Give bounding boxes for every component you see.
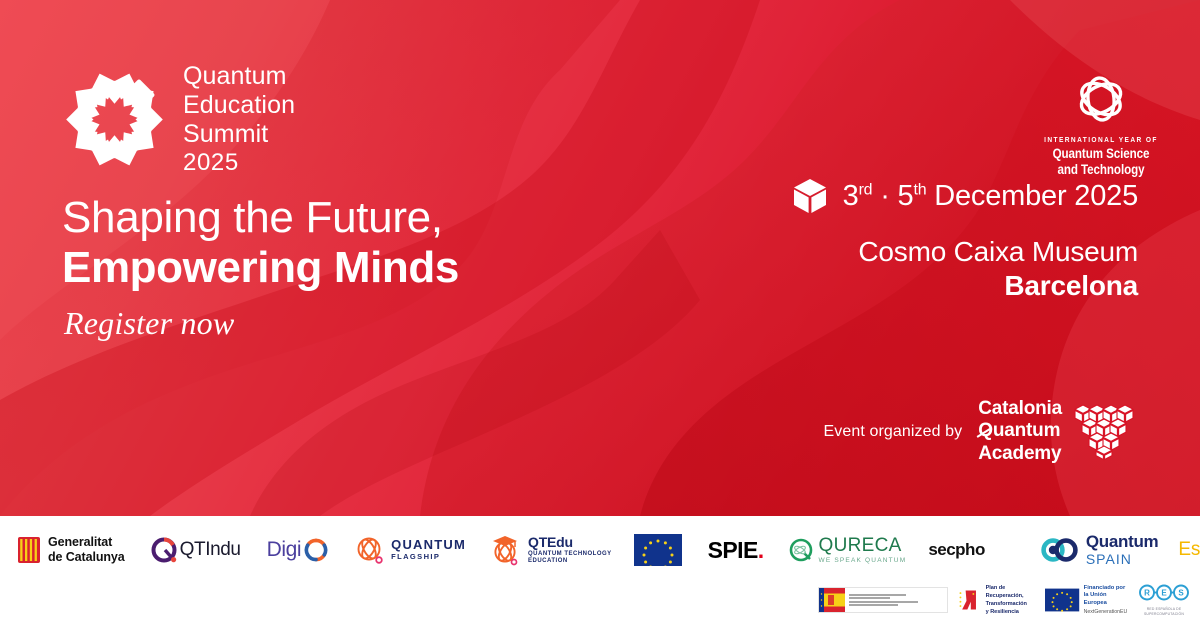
- eu-funding-line3: NextGenerationEU: [1084, 609, 1129, 616]
- summit-logo-wordmark: Quantum Education Summit 2025: [183, 62, 295, 177]
- sponsor-quantum-spain[interactable]: Quantum SPAIN: [1041, 533, 1159, 566]
- event-details: 3rd · 5th December 2025 Cosmo Caixa Muse…: [793, 178, 1138, 302]
- summit-logo: Quantum Education Summit 2025: [62, 62, 295, 177]
- sponsor-secpho[interactable]: secpho: [928, 540, 985, 560]
- res-caption-line2: SUPERCOMPUTACIÓN: [1138, 612, 1190, 617]
- cube-icon: [793, 178, 827, 214]
- secpho-label: secpho: [928, 540, 985, 560]
- sponsor-digiq[interactable]: Digi: [267, 537, 330, 563]
- prtr-r-icon: [957, 587, 981, 613]
- cqa-line2: Quantum: [978, 420, 1062, 442]
- sponsor-espana-digital[interactable]: España | digital 20 26 ↵: [1178, 539, 1200, 561]
- cqa-line3: Academy: [978, 443, 1062, 465]
- sponsor-european-union[interactable]: [634, 534, 682, 566]
- catalonia-quantum-academy-logo: Catalonia Quantum Academy: [978, 398, 1138, 465]
- headline-line2: Empowering Minds: [62, 242, 459, 294]
- register-now-cta[interactable]: Register now: [64, 305, 234, 342]
- qtedu-line1: QTEdu: [528, 535, 612, 551]
- event-date-row: 3rd · 5th December 2025: [793, 178, 1138, 214]
- sponsor-quantum-flagship[interactable]: QUANTUM FLAGSHIP: [355, 535, 466, 565]
- summit-logo-year: 2025: [183, 149, 295, 177]
- digiq-label: Digi: [267, 538, 302, 562]
- summit-logo-line2: Education: [183, 91, 295, 120]
- european-union-flag-icon: [634, 534, 682, 566]
- sponsor-plan-recuperacion[interactable]: Plan de Recuperación, Transformación y R…: [957, 584, 1036, 616]
- atom-orbits-icon: [1065, 68, 1137, 130]
- qtedu-line3: EDUCATION: [528, 558, 612, 565]
- sponsor-spie[interactable]: SPIE.: [708, 537, 764, 564]
- day-end-ordinal: th: [913, 181, 926, 198]
- event-venue: Cosmo Caixa Museum: [793, 236, 1138, 268]
- day-end: 5: [898, 180, 914, 212]
- headline-line1: Shaping the Future,: [62, 194, 459, 242]
- gobierno-text-block: [845, 592, 947, 608]
- iyq-eyebrow: INTERNATIONAL YEAR OF: [1043, 137, 1160, 144]
- flagship-line2: FLAGSHIP: [391, 553, 466, 562]
- quantum-spain-line1: Quantum: [1086, 533, 1159, 551]
- organizer-block: Event organized by Catalonia Quantum Aca…: [824, 398, 1139, 465]
- event-banner: Quantum Education Summit 2025 Shaping th…: [0, 0, 1200, 627]
- international-year-quantum-logo: INTERNATIONAL YEAR OF Quantum Science an…: [1039, 68, 1163, 177]
- qtedu-line2: QUANTUM TECHNOLOGY: [528, 551, 612, 558]
- qtindu-label: QTIndu: [180, 539, 241, 561]
- eu-funding-line1: Financiado por: [1084, 585, 1129, 593]
- digiq-ring-icon: [303, 537, 329, 563]
- quantum-spain-line2: SPAIN: [1086, 552, 1159, 567]
- cqa-q-glyph: Q: [978, 420, 993, 442]
- qureca-line1: QURECA: [818, 536, 906, 557]
- qtindu-circle-icon: [151, 537, 177, 563]
- flagship-line1: QUANTUM: [391, 538, 466, 553]
- quantum-education-summit-mandala: [62, 67, 167, 172]
- cqa-wordmark: Catalonia Quantum Academy: [978, 398, 1062, 465]
- spie-label: SPIE: [708, 537, 758, 563]
- res-letter-r: R: [1144, 588, 1150, 597]
- spie-dot: .: [758, 537, 764, 563]
- generalitat-line1: Generalitat: [48, 535, 125, 550]
- res-rings-icon: R E S: [1138, 584, 1190, 601]
- gobierno-de-espana-icon: [819, 588, 845, 612]
- sponsor-qtedu[interactable]: QTEdu QUANTUM TECHNOLOGY EDUCATION: [488, 533, 612, 567]
- event-city: Barcelona: [793, 270, 1138, 302]
- organizer-prefix: Event organized by: [824, 423, 963, 441]
- cqa-q-rest: uantum: [993, 420, 1060, 441]
- day-start: 3: [843, 180, 859, 212]
- qureca-circle-icon: [789, 538, 813, 562]
- day-start-ordinal: rd: [859, 181, 873, 198]
- sponsor-qureca[interactable]: QURECA WE SPEAK QUANTUM: [789, 536, 906, 564]
- res-letter-s: S: [1178, 588, 1184, 597]
- generalitat-line2: de Catalunya: [48, 550, 125, 565]
- iyq-title-line1: Quantum Science: [1048, 146, 1155, 162]
- cube-cluster-icon: [1072, 402, 1138, 462]
- cqa-line1: Catalonia: [978, 398, 1062, 420]
- eu-funding-line2: la Unión Europea: [1084, 592, 1129, 607]
- sponsor-bar: Generalitat de Catalunya QTIndu Digi: [0, 516, 1200, 627]
- month-year: December 2025: [934, 180, 1138, 212]
- sponsor-qtindu[interactable]: QTIndu: [151, 537, 241, 563]
- sponsor-gobierno-de-espana[interactable]: [818, 587, 948, 613]
- date-separator: ·: [880, 180, 889, 212]
- qtedu-graduation-swirl-icon: [488, 533, 522, 567]
- prtr-line2: Transformación: [986, 600, 1037, 608]
- iyq-title-line2: and Technology: [1048, 162, 1155, 178]
- headline: Shaping the Future, Empowering Minds: [62, 194, 459, 294]
- qureca-line2: WE SPEAK QUANTUM: [818, 557, 906, 564]
- sponsor-eu-funding[interactable]: Financiado por la Unión Europea NextGene…: [1045, 585, 1129, 616]
- hero-section: Quantum Education Summit 2025 Shaping th…: [0, 0, 1200, 516]
- sponsor-generalitat-de-catalunya[interactable]: Generalitat de Catalunya: [18, 535, 125, 565]
- european-union-flag-icon: [1045, 588, 1079, 612]
- prtr-line1: Plan de Recuperación,: [986, 584, 1037, 600]
- quantum-spain-rings-icon: [1041, 538, 1079, 562]
- espana-label: España: [1178, 539, 1200, 561]
- summit-logo-line1: Quantum: [183, 62, 295, 91]
- sponsor-res[interactable]: R E S RED ESPAÑOLA DE SUPERCOMPUTACIÓN: [1138, 584, 1190, 617]
- flagship-swirl-icon: [355, 535, 385, 565]
- res-letter-e: E: [1161, 588, 1167, 597]
- event-date: 3rd · 5th December 2025: [843, 180, 1138, 213]
- summit-logo-line3: Summit: [183, 120, 295, 149]
- sponsor-row-primary: Generalitat de Catalunya QTIndu Digi: [10, 524, 1190, 576]
- prtr-line3: y Resiliencia: [986, 608, 1037, 616]
- catalonia-shield-icon: [18, 537, 40, 563]
- sponsor-row-funding: Plan de Recuperación, Transformación y R…: [818, 580, 1190, 620]
